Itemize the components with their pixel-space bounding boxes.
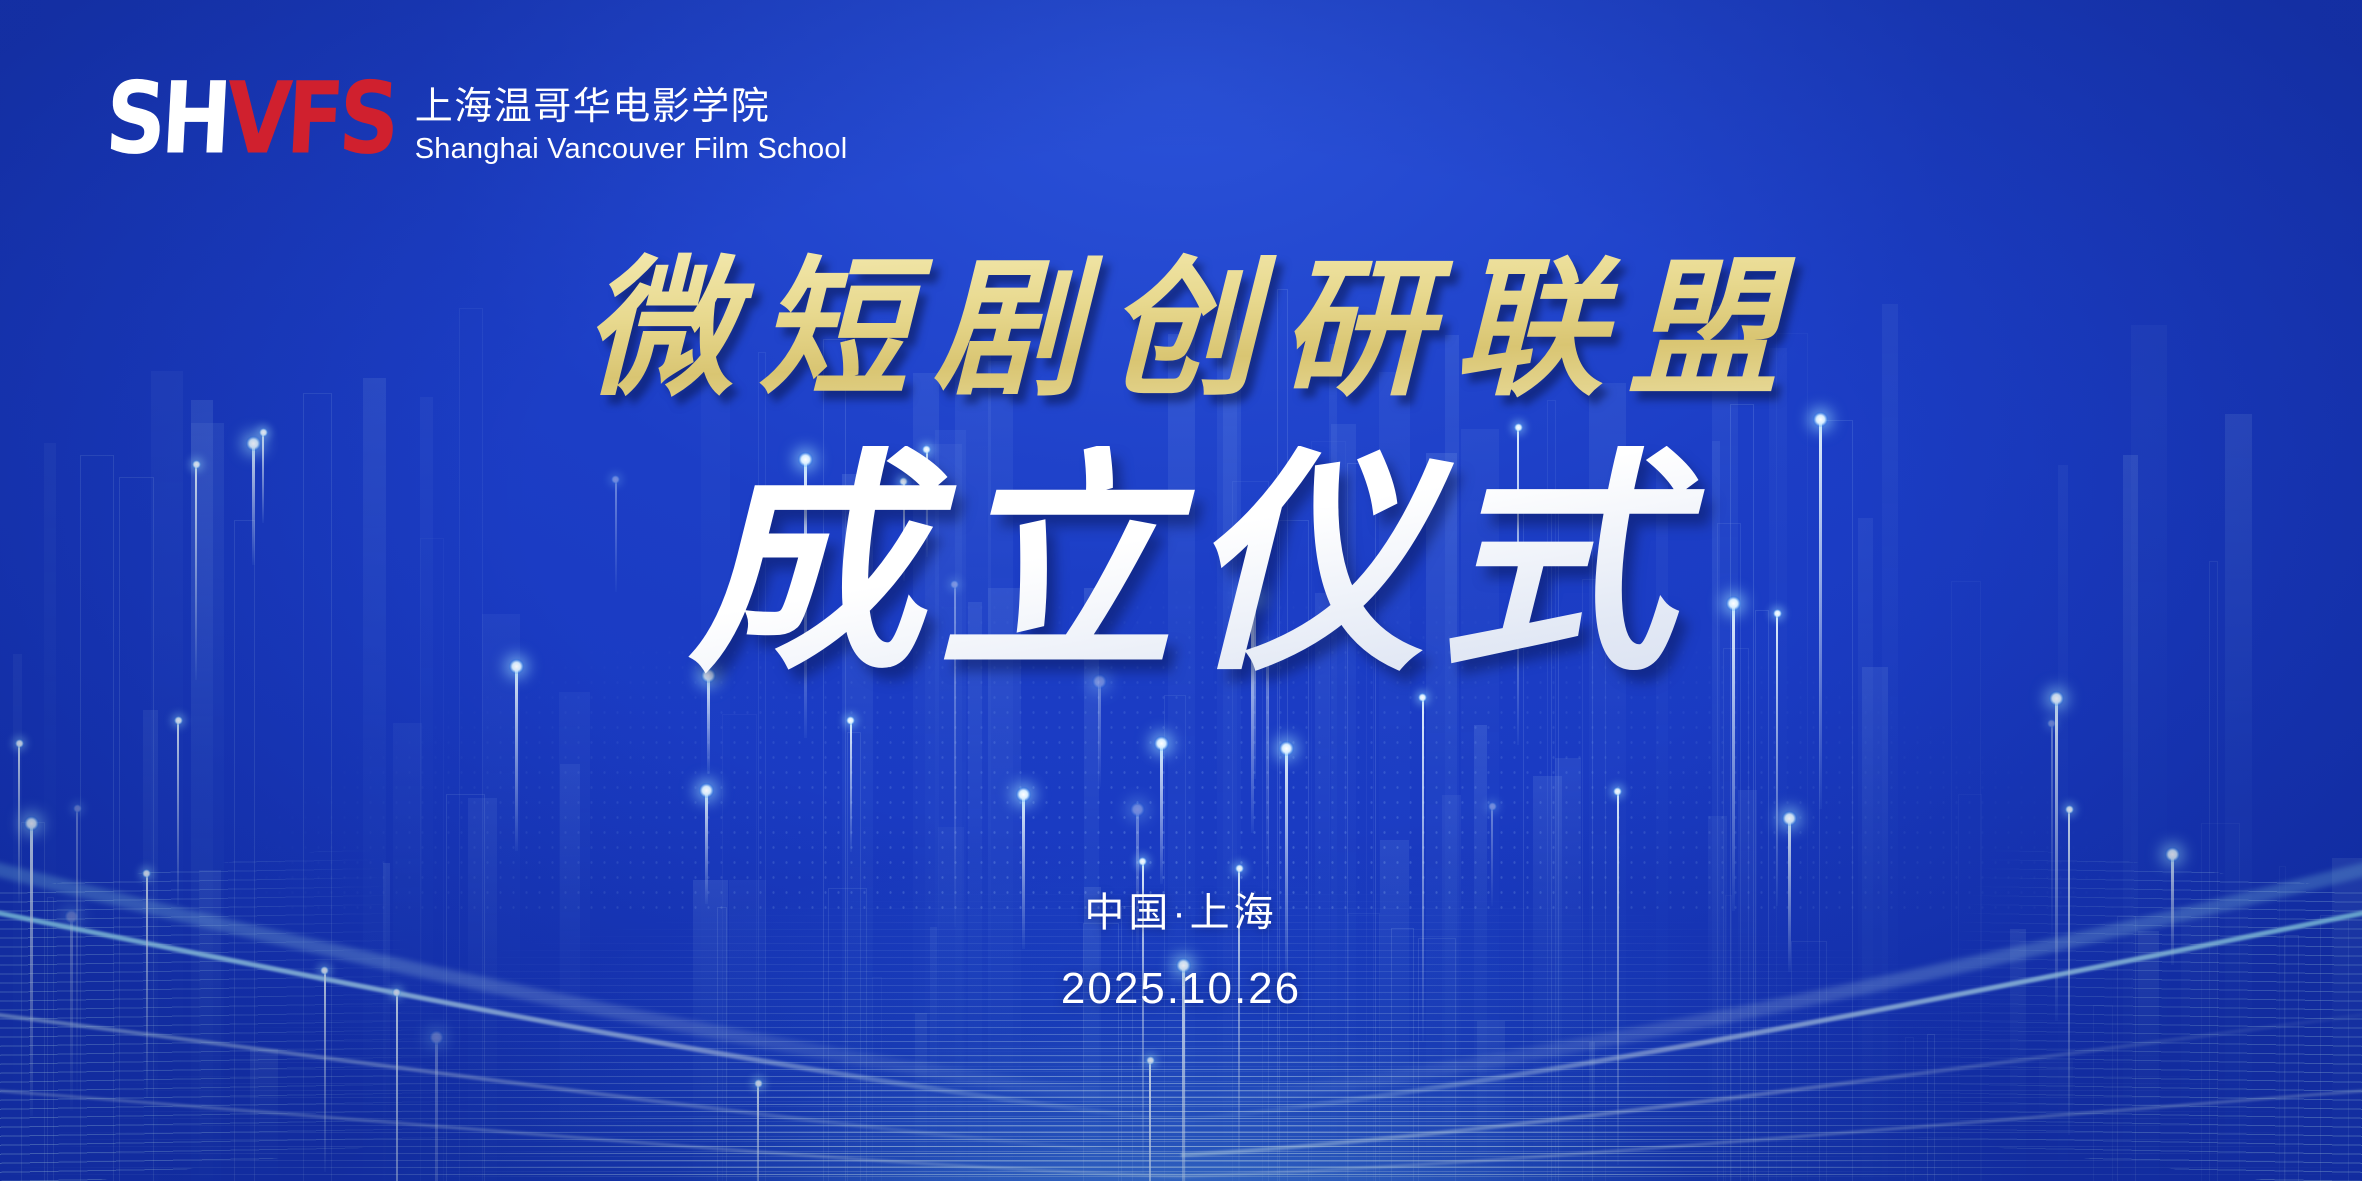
logo-text-block: 上海温哥华电影学院 Shanghai Vancouver Film School [415,78,848,167]
school-logo: SHVFS 上海温哥华电影学院 Shanghai Vancouver Film … [108,78,847,167]
poster-footer-block: 中国·上海 2025.10.26 [0,880,2362,1014]
poster-title-block: 微短剧创研联盟 成立仪式 [0,248,2362,682]
logo-wordmark-vfs: VFS [224,60,398,176]
logo-name-cn: 上海温哥华电影学院 [415,84,848,130]
title-line-primary: 微短剧创研联盟 [0,248,2362,410]
event-backdrop-poster: SHVFS 上海温哥华电影学院 Shanghai Vancouver Film … [0,0,2362,1181]
title-line-secondary: 成立仪式 [0,446,2362,682]
logo-wordmark-sh: SH [103,60,230,176]
logo-wordmark: SHVFS [104,78,397,159]
logo-name-en: Shanghai Vancouver Film School [415,132,848,167]
event-date: 2025.10.26 [0,964,2362,1014]
event-location: 中国·上海 [0,880,2362,938]
